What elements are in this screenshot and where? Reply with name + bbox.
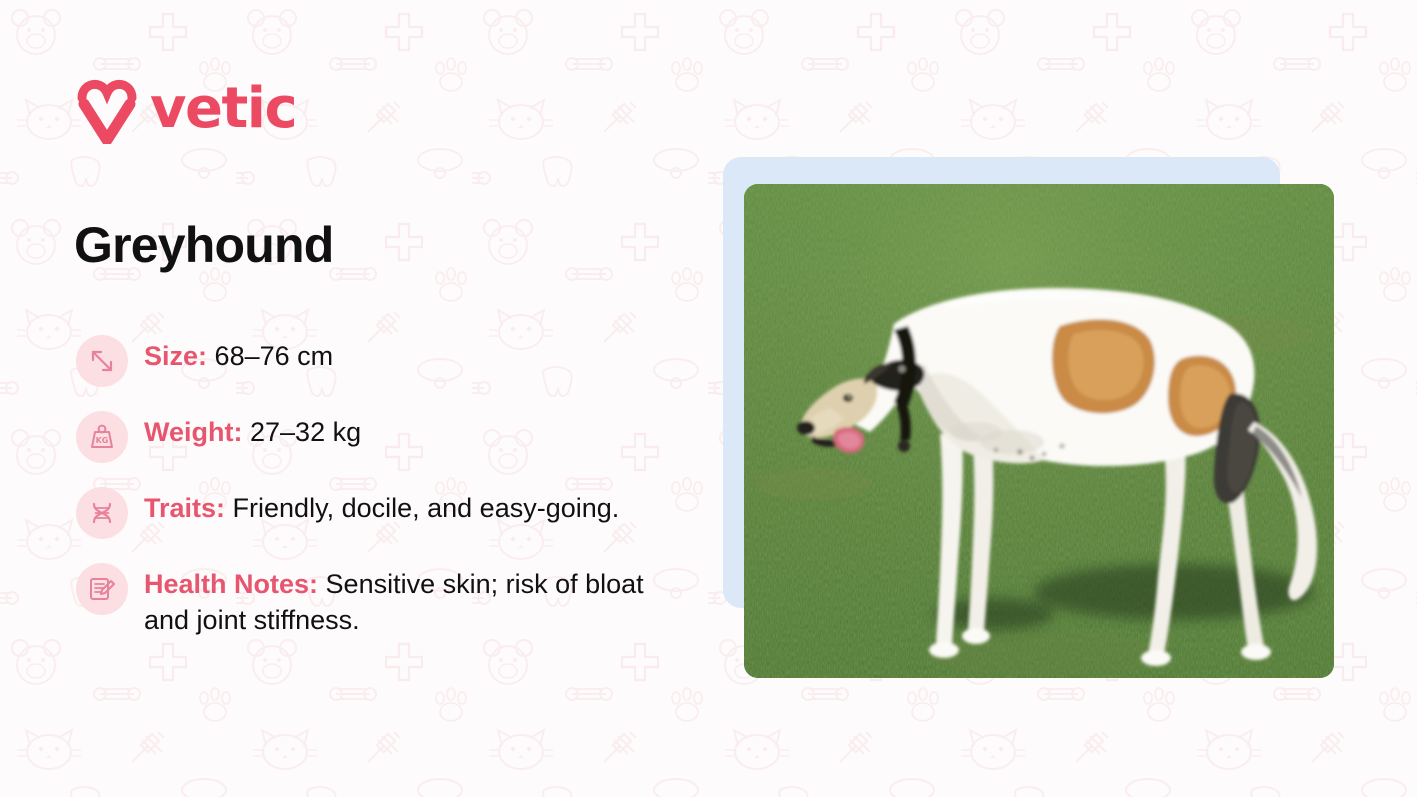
breed-photo bbox=[744, 184, 1334, 678]
brand-name: vetic bbox=[150, 81, 296, 137]
attribute-text: Traits: Friendly, docile, and easy-going… bbox=[144, 485, 619, 527]
list-item: Health Notes: Sensitive skin; risk of bl… bbox=[76, 561, 676, 639]
attribute-list: Size: 68–76 cm KG Weight: 27–32 kg bbox=[76, 333, 676, 639]
attribute-text: Size: 68–76 cm bbox=[144, 333, 333, 375]
list-item: Traits: Friendly, docile, and easy-going… bbox=[76, 485, 676, 539]
attribute-text: Health Notes: Sensitive skin; risk of bl… bbox=[144, 561, 654, 639]
svg-text:KG: KG bbox=[96, 436, 109, 445]
brand-logo[interactable]: vetic bbox=[76, 74, 296, 144]
attribute-label: Weight: bbox=[144, 417, 242, 447]
weight-kg-icon: KG bbox=[76, 411, 128, 463]
notepad-pencil-icon bbox=[76, 563, 128, 615]
attribute-value: 27–32 kg bbox=[250, 417, 361, 447]
attribute-value: 68–76 cm bbox=[215, 341, 334, 371]
attribute-text: Weight: 27–32 kg bbox=[144, 409, 361, 451]
heart-v-logo-icon bbox=[76, 74, 138, 144]
dna-helix-icon bbox=[76, 487, 128, 539]
list-item: KG Weight: 27–32 kg bbox=[76, 409, 676, 463]
attribute-label: Health Notes: bbox=[144, 569, 318, 599]
breed-info-card: vetic Greyhound Size: 68–76 cm bbox=[0, 0, 1417, 797]
list-item: Size: 68–76 cm bbox=[76, 333, 676, 387]
resize-arrow-icon bbox=[76, 335, 128, 387]
attribute-value: Friendly, docile, and easy-going. bbox=[233, 493, 620, 523]
attribute-label: Size: bbox=[144, 341, 207, 371]
attribute-label: Traits: bbox=[144, 493, 225, 523]
page-title: Greyhound bbox=[74, 218, 333, 273]
